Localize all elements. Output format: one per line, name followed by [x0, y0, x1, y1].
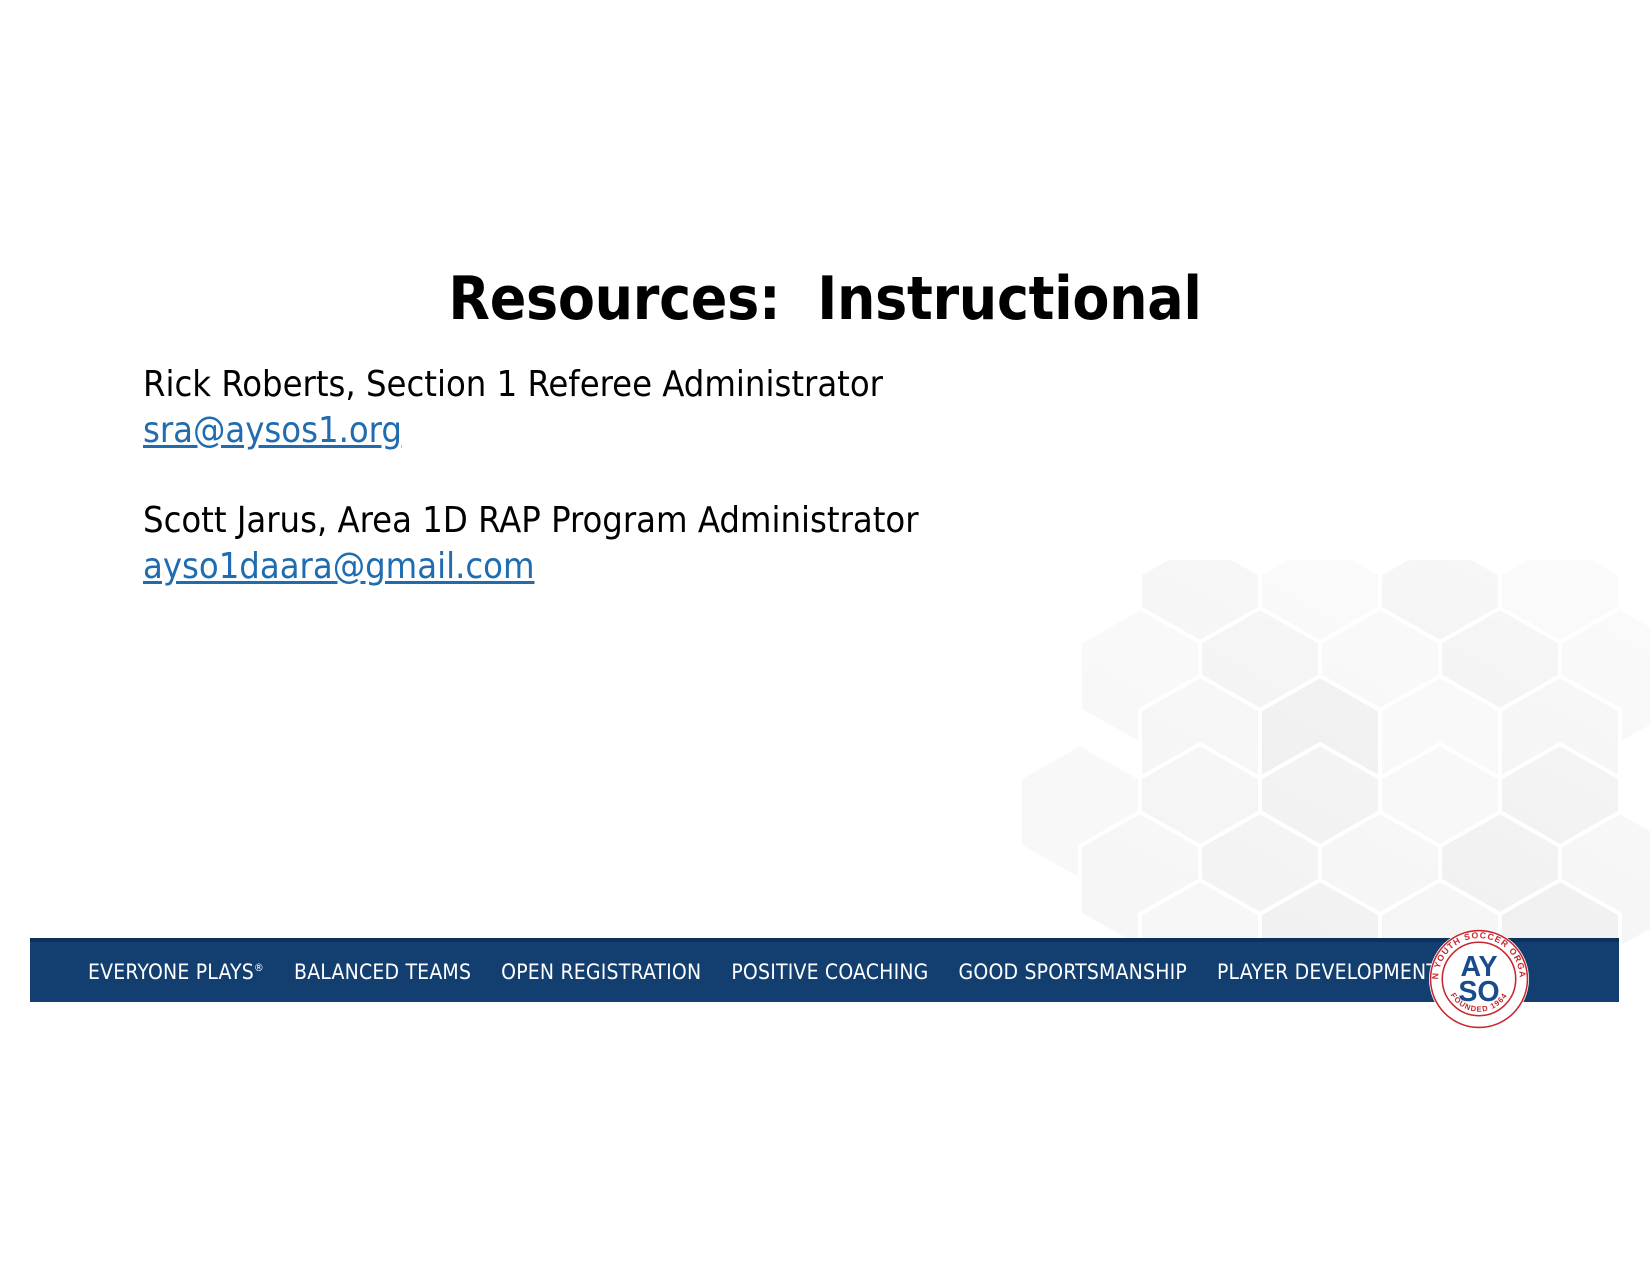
footer-item-everyone-plays: EVERYONE PLAYS®: [88, 960, 264, 984]
footer-item-balanced-teams: BALANCED TEAMS: [294, 960, 471, 984]
footer-tagline-list: EVERYONE PLAYS® BALANCED TEAMS OPEN REGI…: [30, 960, 1438, 984]
hexagon-pattern-decoration: [900, 560, 1650, 980]
footer-item-label: PLAYER DEVELOPMENT: [1217, 960, 1438, 984]
contact-block: Scott Jarus, Area 1D RAP Program Adminis…: [143, 498, 1293, 590]
contact-email-link[interactable]: ayso1daara@gmail.com: [143, 544, 535, 590]
ayso-logo: AMERICAN YOUTH SOCCER ORGANIZATION FOUND…: [1428, 928, 1530, 1030]
contacts-list: Rick Roberts, Section 1 Referee Administ…: [143, 362, 1293, 590]
footer-item-label: BALANCED TEAMS: [294, 960, 471, 984]
page-title: Resources: Instructional: [0, 268, 1650, 331]
contact-block: Rick Roberts, Section 1 Referee Administ…: [143, 362, 1293, 454]
slide-canvas: Resources: Instructional Rick Roberts, S…: [0, 0, 1650, 1275]
footer-item-good-sportsmanship: GOOD SPORTSMANSHIP: [959, 960, 1187, 984]
ayso-wordmark-line2: SO: [1458, 976, 1499, 1008]
contact-name: Rick Roberts, Section 1 Referee Administ…: [143, 362, 1293, 408]
footer-item-label: GOOD SPORTSMANSHIP: [959, 960, 1187, 984]
footer-item-label: EVERYONE PLAYS: [88, 960, 254, 984]
footer-item-open-registration: OPEN REGISTRATION: [501, 960, 701, 984]
footer-item-label: POSITIVE COACHING: [731, 960, 928, 984]
registered-mark-icon: ®: [254, 961, 264, 974]
footer-item-positive-coaching: POSITIVE COACHING: [731, 960, 928, 984]
footer-item-label: OPEN REGISTRATION: [501, 960, 701, 984]
contact-name: Scott Jarus, Area 1D RAP Program Adminis…: [143, 498, 1293, 544]
footer-banner: EVERYONE PLAYS® BALANCED TEAMS OPEN REGI…: [30, 938, 1619, 1002]
contact-email-link[interactable]: sra@aysos1.org: [143, 408, 402, 454]
footer-item-player-development: PLAYER DEVELOPMENT: [1217, 960, 1438, 984]
